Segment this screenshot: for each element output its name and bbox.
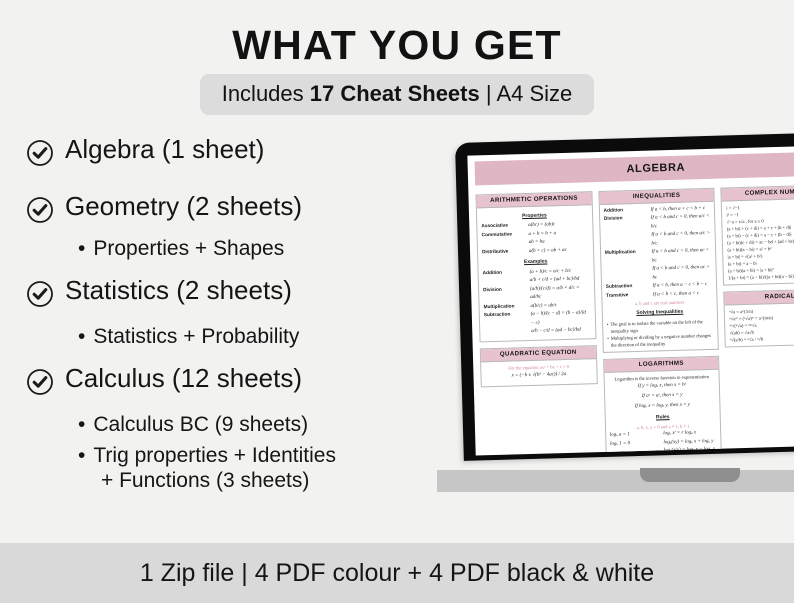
feature-list: Algebra (1 sheet) Geometry (2 sheets) • … (26, 134, 456, 493)
check-circle-icon (26, 368, 54, 396)
formula-row: Distributivea(b + c) = ab + ac (482, 246, 589, 257)
sub-label-statistics-1: Statistics + Probability (93, 324, 299, 349)
feature-label-algebra: Algebra (1 sheet) (65, 134, 264, 164)
laptop-base (437, 470, 794, 492)
sheet-columns: ARITHMETIC OPERATIONS Properties Associa… (475, 184, 794, 455)
formula-row: a/b − c/d = (ad − bc)/bd (484, 327, 591, 338)
list-item: Geometry (2 sheets) (26, 191, 456, 224)
card-radicals: RADICALS ⁿ√a = a^(1/n) ⁿ√aᵐ = (ⁿ√a)ᵐ = a… (724, 288, 794, 347)
section-heading: Examples (482, 257, 589, 268)
card-line: If logₐ x = logₐ y, then x = y (609, 401, 716, 412)
section-heading: Properties (481, 210, 588, 221)
check-circle-icon (26, 280, 54, 308)
section-heading: Solving Inequalities (606, 307, 713, 318)
list-item: Statistics (2 sheets) (26, 275, 456, 308)
check-circle-icon (26, 196, 54, 224)
bullet-icon: • (78, 412, 85, 437)
cheat-sheet-preview: ALGEBRA ARITHMETIC OPERATIONS Properties… (467, 145, 794, 455)
sheet-column-1: ARITHMETIC OPERATIONS Properties Associa… (475, 191, 597, 393)
bullet-icon: • (607, 335, 609, 349)
includes-badge: Includes 17 Cheat Sheets | A4 Size (200, 74, 595, 115)
badge-row: Includes 17 Cheat Sheets | A4 Size (0, 74, 794, 115)
feature-label-calculus: Calculus (12 sheets) (65, 363, 302, 393)
card-bullet: •Multiplying or dividing by a negative n… (607, 332, 714, 349)
laptop-screen: ALGEBRA ARITHMETIC OPERATIONS Properties… (467, 145, 794, 455)
sub-item: • Calculus BC (9 sheets) (78, 412, 456, 437)
laptop-bezel: ALGEBRA ARITHMETIC OPERATIONS Properties… (455, 132, 794, 461)
sub-item: • Statistics + Probability (78, 324, 456, 349)
card-inequalities: INEQUALITIES AdditionIf a < b, then a + … (598, 188, 719, 353)
card-arithmetic-operations: ARITHMETIC OPERATIONS Properties Associa… (475, 191, 596, 342)
footer-banner: 1 Zip file | 4 PDF colour + 4 PDF black … (0, 543, 794, 603)
footer-text: 1 Zip file | 4 PDF colour + 4 PDF black … (140, 559, 654, 588)
bullet-icon: • (78, 324, 85, 349)
card-logarithms: LOGARITHMS Logarithm is the inverse func… (603, 355, 722, 455)
sub-label-calculus-2-cont: + Functions (3 sheets) (101, 468, 456, 493)
poster-canvas: WHAT YOU GET Includes 17 Cheat Sheets | … (0, 0, 794, 603)
bullet-icon: • (607, 321, 609, 335)
sheet-column-2: INEQUALITIES AdditionIf a < b, then a + … (598, 188, 722, 456)
card-formula: x = (−b ± √(b² − 4ac)) / 2a (485, 370, 592, 381)
feature-label-statistics: Statistics (2 sheets) (65, 275, 292, 305)
card-body: Properties Associativea(bc) = (ab)c Comm… (477, 205, 595, 341)
card-complex-numbers: COMPLEX NUMBERS i = √−1 i² = −1 √−a = i√… (721, 184, 794, 285)
sub-item: • Properties + Shapes (78, 236, 456, 261)
card-quadratic-equation: QUADRATIC EQUATION For the equation ax² … (480, 345, 598, 388)
card-body: Logarithm is the inverse function to exp… (604, 369, 721, 455)
bullet-icon: • (78, 236, 85, 261)
sub-label-calculus-1: Calculus BC (9 sheets) (93, 412, 308, 437)
check-circle-icon (26, 139, 54, 167)
sub-label-calculus-2: Trig properties + Identities (93, 443, 336, 468)
laptop-base-notch (640, 468, 740, 482)
list-item: Algebra (1 sheet) (26, 134, 456, 167)
page-title: WHAT YOU GET (0, 22, 794, 69)
badge-suffix: | A4 Size (480, 81, 573, 106)
laptop-mockup: ALGEBRA ARITHMETIC OPERATIONS Properties… (455, 132, 794, 473)
list-item: Calculus (12 sheets) (26, 363, 456, 396)
bullet-icon: • (78, 443, 85, 468)
sub-item: • Trig properties + Identities (78, 443, 456, 468)
card-body: For the equation ax² + bx + c = 0 x = (−… (481, 359, 596, 387)
badge-prefix: Includes (222, 81, 310, 106)
badge-highlight: 17 Cheat Sheets (310, 81, 480, 106)
card-body: ⁿ√a = a^(1/n) ⁿ√aᵐ = (ⁿ√a)ᵐ = a^(m/n) ᵐ√… (725, 302, 794, 346)
card-body: AdditionIf a < b, then a + c < b + c Div… (599, 202, 718, 352)
card-body: i = √−1 i² = −1 √−a = i√a , for a ≥ 0 (a… (722, 198, 794, 284)
section-heading: Rules (609, 411, 716, 422)
sub-label-geometry-1: Properties + Shapes (93, 236, 284, 261)
sheet-title: ALGEBRA (475, 151, 794, 185)
sheet-column-3: COMPLEX NUMBERS i = √−1 i² = −1 √−a = i√… (721, 184, 794, 353)
feature-label-geometry: Geometry (2 sheets) (65, 191, 302, 221)
